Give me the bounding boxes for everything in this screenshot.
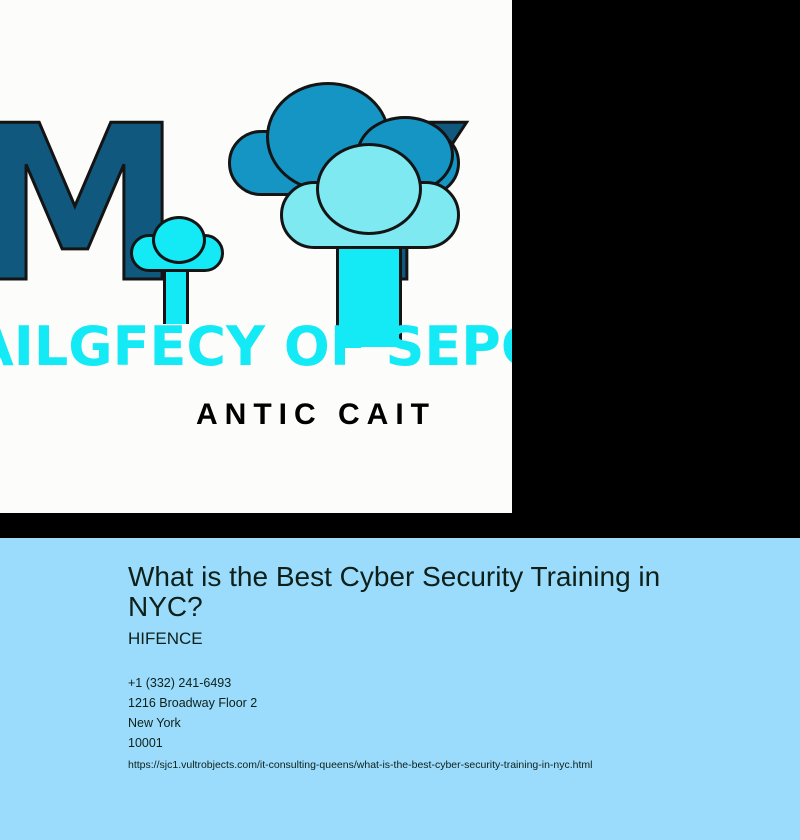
graphic-tagline-secondary: ANTIC CAIT	[196, 398, 512, 432]
source-url[interactable]: https://sjc1.vultrobjects.com/it-consult…	[128, 758, 748, 772]
media-band: M Y S AILGFECY OF SEPCCT ANTIC CAIT	[0, 0, 800, 538]
contact-phone: +1 (332) 241-6493	[128, 673, 748, 693]
graphic-tagline-primary: AILGFECY OF SEPCCT	[0, 320, 512, 374]
cloud-puff-shape	[316, 143, 422, 235]
content-panel: What is the Best Cyber Security Training…	[0, 538, 800, 840]
hero-graphic-image: M Y S AILGFECY OF SEPCCT ANTIC CAIT	[0, 0, 512, 513]
cloud-small-icon	[130, 216, 222, 316]
content-inner: What is the Best Cyber Security Training…	[128, 562, 748, 772]
cloud-front-icon	[280, 143, 458, 303]
contact-street: 1216 Broadway Floor 2	[128, 693, 748, 713]
page-title: What is the Best Cyber Security Training…	[128, 562, 723, 622]
contact-block: +1 (332) 241-6493 1216 Broadway Floor 2 …	[128, 673, 748, 753]
contact-city: New York	[128, 713, 748, 733]
brand-name: HIFENCE	[128, 629, 748, 649]
cloud-puff-shape	[152, 216, 206, 264]
contact-postal-code: 10001	[128, 733, 748, 753]
